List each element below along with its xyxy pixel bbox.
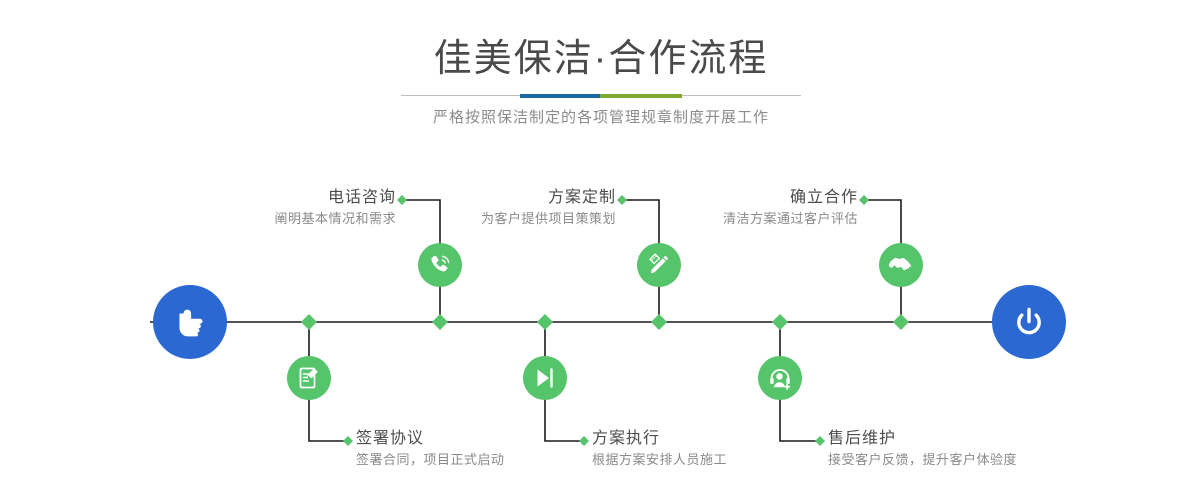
divider-segment-gray-right — [682, 95, 801, 96]
step-label-6: 售后维护 接受客户反馈，提升客户体验度 — [828, 428, 1017, 470]
step-label-5: 确立合作 清洁方案通过客户评估 — [723, 187, 858, 229]
step-title-1: 电话咨询 — [274, 187, 396, 209]
label-diamond-1 — [397, 195, 407, 205]
axis-diamond-2 — [432, 314, 448, 330]
step-desc-1: 阐明基本情况和需求 — [274, 209, 396, 229]
step-desc-6: 接受客户反馈，提升客户体验度 — [828, 450, 1017, 470]
axis-diamond-3 — [537, 314, 553, 330]
divider-segment-green — [600, 94, 682, 98]
power-icon — [1008, 301, 1050, 343]
title-divider — [401, 94, 801, 97]
phone-call-icon — [427, 252, 453, 278]
flow-end-endpoint[interactable] — [992, 285, 1066, 359]
step-desc-5: 清洁方案通过客户评估 — [723, 209, 858, 229]
customer-support-icon — [767, 365, 793, 391]
node-icon-step-6[interactable] — [758, 356, 802, 400]
step-title-5: 确立合作 — [723, 187, 858, 209]
step-desc-2: 签署合同，项目正式启动 — [356, 450, 505, 470]
label-diamonds — [343, 195, 869, 446]
step-desc-4: 根据方案安排人员施工 — [592, 450, 727, 470]
node-icon-step-2[interactable] — [287, 356, 331, 400]
axis-diamond-1 — [301, 314, 317, 330]
step-label-3: 方案定制 为客户提供项目策策划 — [481, 187, 616, 229]
step-desc-3: 为客户提供项目策策划 — [481, 209, 616, 229]
axis-diamonds — [301, 314, 909, 330]
axis-diamond-5 — [772, 314, 788, 330]
step-title-3: 方案定制 — [481, 187, 616, 209]
step-label-4: 方案执行 根据方案安排人员施工 — [592, 428, 727, 470]
page-title: 佳美保洁·合作流程 — [0, 36, 1202, 82]
step-title-4: 方案执行 — [592, 428, 727, 450]
node-icon-step-1[interactable] — [418, 243, 462, 287]
step-label-2: 签署协议 签署合同，项目正式启动 — [356, 428, 505, 470]
pointing-hand-icon — [169, 301, 211, 343]
node-icon-step-4[interactable] — [523, 356, 567, 400]
step-label-1: 电话咨询 阐明基本情况和需求 — [274, 187, 396, 229]
handshake-icon — [887, 251, 915, 279]
flow-start-endpoint[interactable] — [153, 285, 227, 359]
label-diamond-5 — [859, 195, 869, 205]
label-diamond-3 — [617, 195, 627, 205]
step-title-6: 售后维护 — [828, 428, 1017, 450]
node-icon-step-5[interactable] — [879, 243, 923, 287]
pencil-ruler-icon — [646, 252, 672, 278]
page-subtitle: 严格按照保洁制定的各项管理规章制度开展工作 — [0, 106, 1202, 130]
axis-diamond-4 — [651, 314, 667, 330]
step-title-2: 签署协议 — [356, 428, 505, 450]
label-diamond-6 — [815, 436, 825, 446]
process-flow-diagram: 佳美保洁·合作流程 严格按照保洁制定的各项管理规章制度开展工作 — [0, 0, 1202, 502]
label-diamond-2 — [343, 436, 353, 446]
document-edit-icon — [296, 365, 322, 391]
play-execute-icon — [532, 365, 558, 391]
divider-segment-blue — [520, 94, 600, 98]
divider-segment-gray-left — [401, 95, 520, 96]
axis-diamond-6 — [893, 314, 909, 330]
label-diamond-4 — [579, 436, 589, 446]
node-icon-step-3[interactable] — [637, 243, 681, 287]
